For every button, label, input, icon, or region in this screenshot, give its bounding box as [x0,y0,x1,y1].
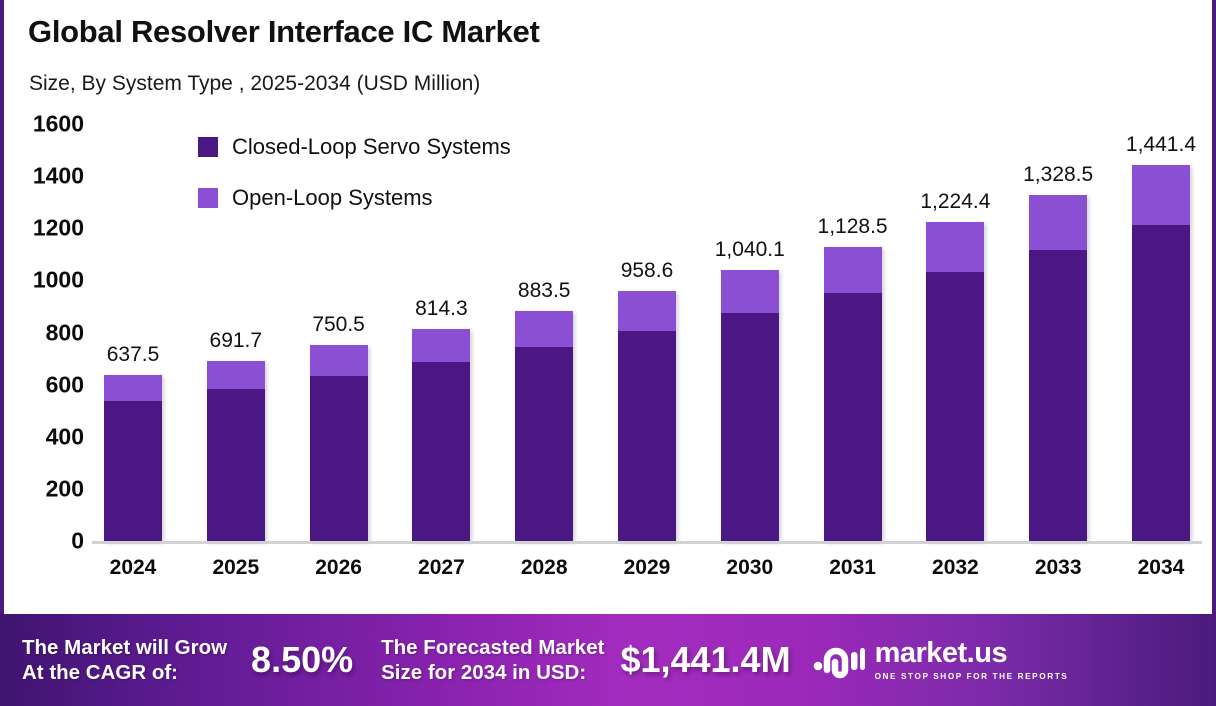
x-axis-tick-label: 2027 [412,556,470,580]
forecast-value: $1,441.4M [620,639,790,681]
x-axis-tick-label: 2033 [1029,556,1087,580]
bar-segment-open-loop[interactable] [926,222,984,272]
legend-item[interactable]: Open-Loop Systems [198,185,511,211]
bar-segment-open-loop[interactable] [618,291,676,330]
y-axis-tick-label: 400 [46,423,84,450]
footer-banner: The Market will Grow At the CAGR of: 8.5… [0,614,1216,706]
cagr-caption: The Market will Grow At the CAGR of: [22,635,227,686]
bar-stack[interactable] [824,247,882,541]
bar-segment-closed-loop[interactable] [515,347,573,541]
y-axis-tick-label: 1000 [33,267,84,294]
y-axis-tick-label: 200 [46,475,84,502]
bar-total-label: 814.3 [415,297,468,321]
bar-stack[interactable] [618,291,676,541]
logo-tagline: ONE STOP SHOP FOR THE REPORTS [875,672,1069,681]
bar-stack[interactable] [310,345,368,541]
bar-total-label: 637.5 [107,343,160,367]
forecast-caption-line1: The Forecasted Market [381,635,604,660]
page-subtitle: Size, By System Type , 2025-2034 (USD Mi… [29,72,480,96]
x-axis-tick-label: 2031 [824,556,882,580]
cagr-block: The Market will Grow At the CAGR of: 8.5… [22,635,353,686]
y-axis-tick-label: 0 [71,528,84,555]
bar-total-label: 1,040.1 [715,238,785,262]
bar-segment-open-loop[interactable] [310,345,368,376]
x-axis-labels: 2024202520262027202820292030203120322033… [92,556,1202,580]
bar-group[interactable]: 883.5 [515,124,573,541]
bar-segment-closed-loop[interactable] [824,293,882,541]
y-axis-labels: 16001400120010008006004002000 [0,124,84,544]
bar-segment-closed-loop[interactable] [310,376,368,541]
market-us-logo[interactable]: market.us ONE STOP SHOP FOR THE REPORTS [813,639,1069,681]
bar-group[interactable]: 1,224.4 [926,124,984,541]
bar-segment-open-loop[interactable] [824,247,882,293]
legend-swatch-icon [198,137,218,157]
bar-stack[interactable] [721,270,779,541]
bar-group[interactable]: 1,441.4 [1132,124,1190,541]
bar-segment-open-loop[interactable] [104,375,162,401]
bar-group[interactable]: 1,328.5 [1029,124,1087,541]
cagr-caption-line2: At the CAGR of: [22,660,227,685]
x-axis-line [92,541,1202,544]
bar-total-label: 1,224.4 [920,190,990,214]
bar-group[interactable]: 1,128.5 [824,124,882,541]
chart-page: Global Resolver Interface IC Market Size… [0,0,1216,706]
bar-segment-open-loop[interactable] [1029,195,1087,250]
forecast-block: The Forecasted Market Size for 2034 in U… [381,635,790,686]
y-axis-tick-label: 1200 [33,215,84,242]
bar-segment-closed-loop[interactable] [207,389,265,541]
y-axis-tick-label: 1400 [33,163,84,190]
x-axis-tick-label: 2024 [104,556,162,580]
x-axis-tick-label: 2030 [721,556,779,580]
bar-segment-open-loop[interactable] [412,329,470,363]
bar-segment-open-loop[interactable] [207,361,265,389]
logo-name: market.us [875,639,1069,668]
bar-segment-closed-loop[interactable] [1029,250,1087,541]
cagr-value: 8.50% [251,639,353,681]
bar-total-label: 883.5 [518,279,571,303]
bar-stack[interactable] [515,311,573,541]
right-border-accent [1212,0,1216,706]
bar-total-label: 1,441.4 [1126,133,1196,157]
forecast-caption-line2: Size for 2034 in USD: [381,660,604,685]
bar-total-label: 691.7 [210,329,263,353]
bar-segment-closed-loop[interactable] [618,331,676,541]
bar-total-label: 750.5 [312,313,365,337]
x-axis-tick-label: 2025 [207,556,265,580]
page-title: Global Resolver Interface IC Market [28,14,540,50]
bar-group[interactable]: 1,040.1 [721,124,779,541]
bar-segment-closed-loop[interactable] [1132,225,1190,541]
x-axis-tick-label: 2028 [515,556,573,580]
cagr-caption-line1: The Market will Grow [22,635,227,660]
bar-group[interactable]: 958.6 [618,124,676,541]
bar-stack[interactable] [1132,165,1190,541]
bar-chart-logo-icon [813,640,865,680]
logo-text: market.us ONE STOP SHOP FOR THE REPORTS [875,639,1069,681]
x-axis-tick-label: 2029 [618,556,676,580]
bar-stack[interactable] [104,375,162,541]
bar-segment-closed-loop[interactable] [721,313,779,541]
y-axis-tick-label: 600 [46,371,84,398]
y-axis-tick-label: 800 [46,319,84,346]
legend-item[interactable]: Closed-Loop Servo Systems [198,134,511,160]
bar-segment-open-loop[interactable] [1132,165,1190,224]
bar-stack[interactable] [1029,195,1087,541]
bar-total-label: 1,328.5 [1023,163,1093,187]
legend-item-label: Open-Loop Systems [232,185,433,211]
chart-legend: Closed-Loop Servo SystemsOpen-Loop Syste… [198,134,511,211]
bar-segment-open-loop[interactable] [515,311,573,347]
bar-total-label: 958.6 [621,259,674,283]
x-axis-tick-label: 2034 [1132,556,1190,580]
bar-stack[interactable] [412,329,470,541]
x-axis-tick-label: 2032 [926,556,984,580]
bar-group[interactable]: 637.5 [104,124,162,541]
forecast-caption: The Forecasted Market Size for 2034 in U… [381,635,604,686]
bar-stack[interactable] [926,222,984,541]
bar-segment-closed-loop[interactable] [104,401,162,541]
bar-segment-open-loop[interactable] [721,270,779,313]
legend-item-label: Closed-Loop Servo Systems [232,134,511,160]
bar-segment-closed-loop[interactable] [926,272,984,541]
bar-stack[interactable] [207,361,265,541]
legend-swatch-icon [198,188,218,208]
bar-total-label: 1,128.5 [818,215,888,239]
y-axis-tick-label: 1600 [33,111,84,138]
x-axis-tick-label: 2026 [310,556,368,580]
bar-segment-closed-loop[interactable] [412,362,470,541]
